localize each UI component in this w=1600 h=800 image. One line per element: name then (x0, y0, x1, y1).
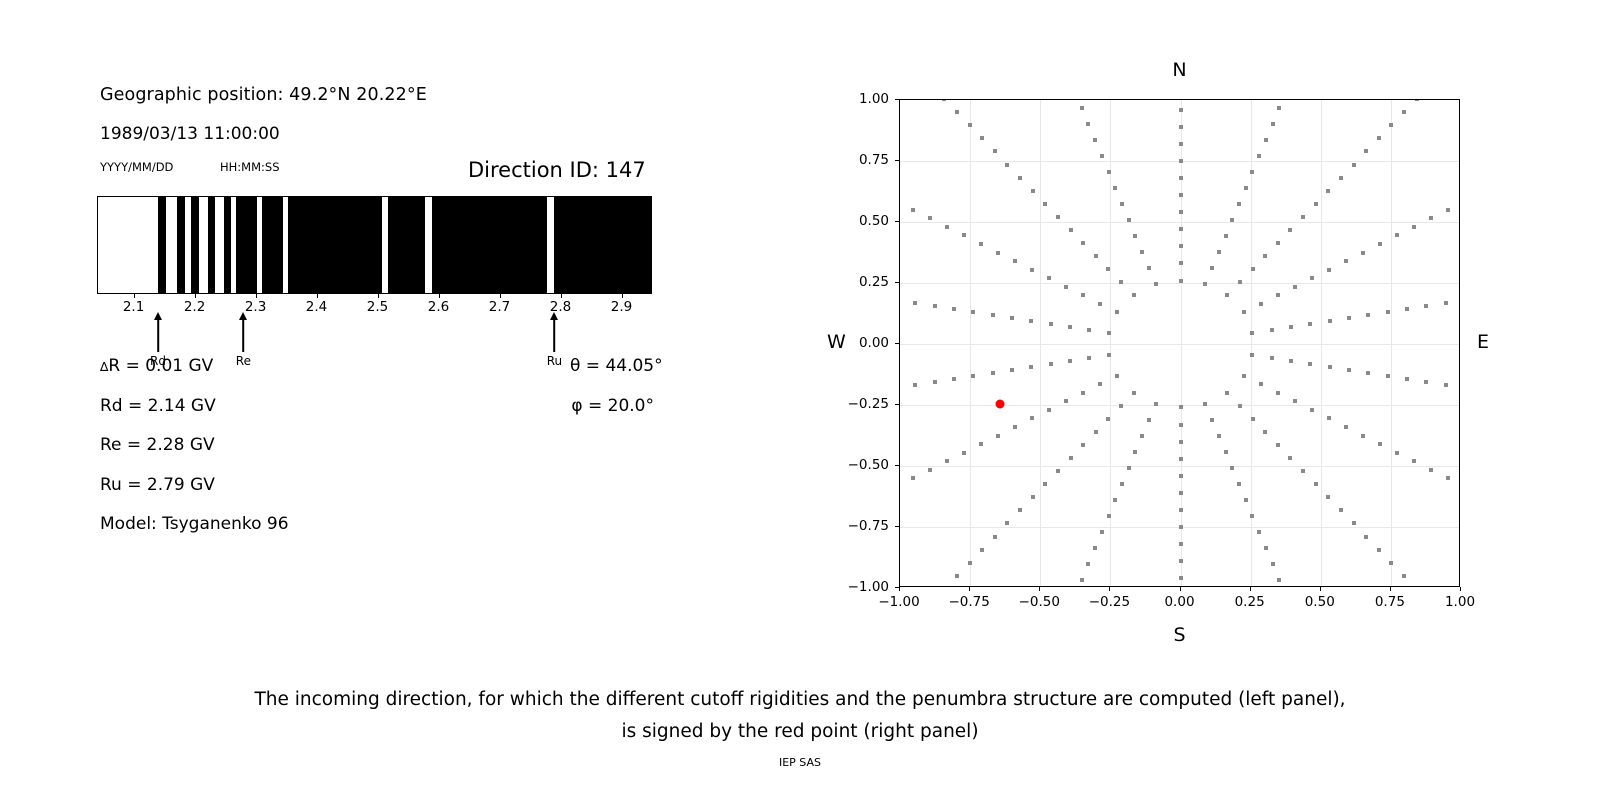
direction-point[interactable] (1314, 482, 1318, 486)
direction-point[interactable] (1179, 457, 1183, 461)
plot-xtick-label: −0.25 (1089, 594, 1130, 610)
direction-point[interactable] (1347, 316, 1351, 320)
direction-point[interactable] (1115, 374, 1119, 378)
direction-point[interactable] (1293, 285, 1297, 289)
direction-point[interactable] (1029, 365, 1033, 369)
direction-point[interactable] (993, 535, 997, 539)
direction-point[interactable] (1308, 362, 1312, 366)
direction-point[interactable] (1018, 176, 1022, 180)
direction-point[interactable] (968, 561, 972, 565)
direction-point[interactable] (1364, 535, 1368, 539)
direction-point[interactable] (1289, 359, 1293, 363)
direction-point[interactable] (1257, 154, 1261, 158)
direction-point[interactable] (1154, 282, 1158, 286)
direction-point[interactable] (1230, 466, 1234, 470)
direction-point[interactable] (1244, 186, 1248, 190)
penumbra-tick-mark (378, 294, 379, 298)
direction-point[interactable] (1119, 280, 1123, 284)
direction-point[interactable] (1069, 456, 1073, 460)
direction-point[interactable] (1179, 525, 1183, 529)
direction-point[interactable] (1389, 561, 1393, 565)
penumbra-tick-label: 2.3 (245, 299, 266, 315)
direction-point[interactable] (991, 313, 995, 317)
direction-point[interactable] (1277, 106, 1281, 110)
direction-id-text: Direction ID: 147 (468, 158, 646, 182)
direction-point[interactable] (979, 242, 983, 246)
direction-point[interactable] (1093, 138, 1097, 142)
direction-point[interactable] (1327, 268, 1331, 272)
direction-point[interactable] (1080, 578, 1084, 582)
penumbra-chart (97, 196, 652, 294)
direction-point[interactable] (1339, 508, 1343, 512)
direction-point[interactable] (1405, 377, 1409, 381)
direction-point[interactable] (1270, 356, 1274, 360)
direction-point[interactable] (1086, 122, 1090, 126)
marker-arrow-rd (157, 320, 159, 352)
direction-point[interactable] (1043, 482, 1047, 486)
penumbra-band (236, 197, 257, 293)
direction-point[interactable] (1386, 310, 1390, 314)
direction-point[interactable] (1344, 425, 1348, 429)
direction-point[interactable] (1049, 362, 1053, 366)
direction-point[interactable] (1029, 319, 1033, 323)
marker-arrow-ru (554, 320, 556, 352)
direction-point[interactable] (1179, 440, 1183, 444)
direction-point[interactable] (1224, 450, 1228, 454)
penumbra-band (177, 197, 184, 293)
direction-point[interactable] (1179, 279, 1183, 283)
direction-point[interactable] (1140, 434, 1144, 438)
direction-point[interactable] (1301, 469, 1305, 473)
direction-point[interactable] (1147, 266, 1151, 270)
direction-point[interactable] (1179, 125, 1183, 129)
direction-point[interactable] (1230, 218, 1234, 222)
gridline-horizontal (900, 344, 1459, 345)
gridline-vertical (1181, 100, 1182, 586)
direction-point[interactable] (1140, 250, 1144, 254)
direction-point[interactable] (1361, 251, 1365, 255)
direction-point[interactable] (1056, 215, 1060, 219)
direction-point[interactable] (1366, 371, 1370, 375)
plot-ytick (895, 221, 899, 222)
direction-point[interactable] (1179, 210, 1183, 214)
direction-point[interactable] (1094, 254, 1098, 258)
gridline-horizontal (900, 466, 1459, 467)
marker-arrow-re (243, 320, 245, 352)
compass-label-east: E (1477, 331, 1489, 353)
direction-point[interactable] (1127, 218, 1131, 222)
direction-point[interactable] (1263, 254, 1267, 258)
direction-point[interactable] (955, 574, 959, 578)
direction-point[interactable] (1250, 170, 1254, 174)
direction-point[interactable] (1068, 325, 1072, 329)
direction-point[interactable] (1094, 430, 1098, 434)
direction-point[interactable] (1251, 417, 1255, 421)
plot-ytick-label: 1.00 (843, 91, 889, 107)
plot-xtick-label: 0.25 (1235, 594, 1265, 610)
direction-point[interactable] (913, 383, 917, 387)
direction-point[interactable] (996, 251, 1000, 255)
direction-point[interactable] (1107, 353, 1111, 357)
direction-point[interactable] (1424, 304, 1428, 308)
marker-arrowhead-rd (154, 312, 162, 320)
direction-point[interactable] (1238, 280, 1242, 284)
direction-point[interactable] (1250, 331, 1254, 335)
plot-xtick-label: 0.50 (1305, 594, 1335, 610)
penumbra-tick-mark (134, 294, 135, 298)
direction-point[interactable] (1179, 227, 1183, 231)
direction-point[interactable] (911, 476, 915, 480)
direction-point[interactable] (979, 442, 983, 446)
penumbra-band (158, 197, 167, 293)
angle-line: φ = 20.0° (570, 396, 654, 416)
marker-label-re: Re (236, 354, 251, 368)
direction-point[interactable] (1244, 498, 1248, 502)
direction-point[interactable] (1127, 466, 1131, 470)
direction-point[interactable] (1288, 456, 1292, 460)
plot-ytick (895, 526, 899, 527)
direction-point[interactable] (1098, 382, 1102, 386)
direction-point[interactable] (1115, 310, 1119, 314)
stat-line: Model: Tsyganenko 96 (100, 514, 289, 534)
direction-point[interactable] (1259, 382, 1263, 386)
direction-point[interactable] (1377, 136, 1381, 140)
direction-point[interactable] (952, 377, 956, 381)
gridline-vertical (1321, 100, 1322, 586)
direction-point[interactable] (1264, 138, 1268, 142)
marker-label-ru: Ru (547, 354, 562, 368)
stat-line: Re = 2.28 GV (100, 435, 215, 455)
penumbra-tick-label: 2.1 (123, 299, 144, 315)
direction-point[interactable] (1081, 443, 1085, 447)
penumbra-tick-mark (256, 294, 257, 298)
direction-point[interactable] (1276, 241, 1280, 245)
direction-point[interactable] (1276, 293, 1280, 297)
plot-ytick (895, 587, 899, 588)
direction-point[interactable] (980, 548, 984, 552)
plot-ytick (895, 404, 899, 405)
plot-ytick (895, 99, 899, 100)
gridline-vertical (1040, 100, 1041, 586)
direction-point[interactable] (962, 233, 966, 237)
plot-xtick (1390, 587, 1391, 591)
direction-point[interactable] (1010, 368, 1014, 372)
direction-point[interactable] (1224, 234, 1228, 238)
plot-frame (899, 99, 1460, 587)
direction-point[interactable] (1308, 322, 1312, 326)
direction-point[interactable] (980, 136, 984, 140)
direction-point[interactable] (1031, 495, 1035, 499)
direction-point[interactable] (1237, 482, 1241, 486)
direction-scatter-panel (899, 99, 1460, 587)
direction-point[interactable] (1043, 202, 1047, 206)
direction-point[interactable] (1263, 430, 1267, 434)
direction-point[interactable] (1276, 443, 1280, 447)
direction-point[interactable] (913, 301, 917, 305)
direction-point[interactable] (1132, 391, 1136, 395)
direction-point[interactable] (1113, 498, 1117, 502)
direction-point[interactable] (1270, 328, 1274, 332)
direction-point[interactable] (1328, 365, 1332, 369)
direction-point[interactable] (1081, 241, 1085, 245)
direction-point[interactable] (1064, 399, 1068, 403)
direction-point[interactable] (1179, 576, 1183, 580)
direction-point[interactable] (1179, 159, 1183, 163)
direction-point[interactable] (1352, 521, 1356, 525)
date-format-hint: YYYY/MM/DD (100, 160, 173, 174)
direction-point[interactable] (1251, 267, 1255, 271)
direction-point[interactable] (1389, 123, 1393, 127)
compass-label-south: S (1173, 624, 1185, 646)
direction-point[interactable] (1366, 313, 1370, 317)
direction-point[interactable] (1087, 356, 1091, 360)
penumbra-band (554, 197, 652, 293)
direction-point[interactable] (971, 310, 975, 314)
penumbra-tick-label: 2.4 (306, 299, 327, 315)
direction-point[interactable] (1314, 202, 1318, 206)
plot-xtick (1039, 587, 1040, 591)
direction-point[interactable] (1242, 310, 1246, 314)
direction-point[interactable] (1289, 325, 1293, 329)
direction-point[interactable] (1301, 215, 1305, 219)
direction-point[interactable] (928, 468, 932, 472)
direction-point[interactable] (1179, 244, 1183, 248)
direction-point[interactable] (1377, 548, 1381, 552)
direction-point[interactable] (1106, 267, 1110, 271)
direction-point[interactable] (1179, 142, 1183, 146)
direction-point[interactable] (1133, 234, 1137, 238)
direction-point[interactable] (968, 123, 972, 127)
direction-point[interactable] (1107, 170, 1111, 174)
direction-point[interactable] (1386, 374, 1390, 378)
plot-ytick-label: −0.25 (843, 396, 889, 412)
direction-point[interactable] (1210, 418, 1214, 422)
direction-point[interactable] (1210, 266, 1214, 270)
direction-point[interactable] (1030, 416, 1034, 420)
direction-point[interactable] (1344, 259, 1348, 263)
direction-point[interactable] (1225, 293, 1229, 297)
direction-point[interactable] (1217, 434, 1221, 438)
direction-point[interactable] (1310, 408, 1314, 412)
direction-point[interactable] (945, 225, 949, 229)
penumbra-axis: 2.12.22.32.42.52.62.72.82.9RdReRu (97, 294, 652, 310)
direction-point[interactable] (1069, 228, 1073, 232)
direction-point[interactable] (1203, 402, 1207, 406)
penumbra-tick-mark (195, 294, 196, 298)
direction-point[interactable] (1081, 391, 1085, 395)
direction-point[interactable] (1237, 202, 1241, 206)
direction-point[interactable] (1120, 202, 1124, 206)
direction-point[interactable] (1257, 530, 1261, 534)
direction-point[interactable] (1179, 474, 1183, 478)
direction-point[interactable] (1081, 293, 1085, 297)
direction-point[interactable] (1328, 319, 1332, 323)
direction-point[interactable] (1327, 416, 1331, 420)
direction-point[interactable] (1064, 285, 1068, 289)
direction-point[interactable] (1264, 546, 1268, 550)
plot-ytick-label: 0.75 (843, 152, 889, 168)
direction-point[interactable] (1010, 316, 1014, 320)
direction-point[interactable] (1277, 578, 1281, 582)
direction-point[interactable] (942, 99, 946, 101)
direction-point[interactable] (1147, 418, 1151, 422)
direction-point[interactable] (1086, 562, 1090, 566)
direction-point[interactable] (1415, 99, 1419, 101)
direction-point[interactable] (1238, 404, 1242, 408)
direction-point[interactable] (1179, 508, 1183, 512)
direction-point[interactable] (1378, 442, 1382, 446)
penumbra-tick-mark (561, 294, 562, 298)
direction-point[interactable] (1288, 228, 1292, 232)
direction-point[interactable] (1107, 514, 1111, 518)
left-panel: Geographic position: 49.2°N 20.22°E 1989… (0, 0, 720, 660)
direction-point[interactable] (1203, 282, 1207, 286)
direction-point[interactable] (1446, 208, 1450, 212)
direction-point[interactable] (1100, 530, 1104, 534)
direction-point[interactable] (991, 371, 995, 375)
direction-point[interactable] (1225, 391, 1229, 395)
plot-xtick (899, 587, 900, 591)
penumbra-tick-label: 2.2 (184, 299, 205, 315)
direction-point[interactable] (1179, 542, 1183, 546)
direction-point[interactable] (1047, 408, 1051, 412)
direction-point[interactable] (1412, 459, 1416, 463)
direction-point[interactable] (1444, 301, 1448, 305)
direction-point[interactable] (1293, 399, 1297, 403)
direction-point[interactable] (1056, 469, 1060, 473)
direction-point[interactable] (952, 307, 956, 311)
plot-xtick (1250, 587, 1251, 591)
direction-point[interactable] (1013, 425, 1017, 429)
selected-direction-point[interactable] (995, 399, 1004, 408)
direction-point[interactable] (971, 374, 975, 378)
penumbra-band (432, 197, 547, 293)
direction-point[interactable] (1326, 495, 1330, 499)
direction-point[interactable] (1405, 307, 1409, 311)
direction-point[interactable] (962, 451, 966, 455)
penumbra-tick-mark (439, 294, 440, 298)
direction-point[interactable] (1271, 562, 1275, 566)
direction-point[interactable] (1107, 331, 1111, 335)
penumbra-tick-mark (317, 294, 318, 298)
direction-point[interactable] (1326, 189, 1330, 193)
direction-point[interactable] (1106, 417, 1110, 421)
direction-point[interactable] (1005, 521, 1009, 525)
direction-point[interactable] (1132, 293, 1136, 297)
direction-point[interactable] (1179, 108, 1183, 112)
direction-point[interactable] (1093, 546, 1097, 550)
direction-point[interactable] (955, 110, 959, 114)
direction-point[interactable] (1113, 186, 1117, 190)
direction-point[interactable] (1018, 508, 1022, 512)
datetime-text: 1989/03/13 11:00:00 (100, 124, 280, 144)
direction-point[interactable] (1179, 193, 1183, 197)
direction-point[interactable] (933, 304, 937, 308)
direction-point[interactable] (1364, 149, 1368, 153)
penumbra-tick-label: 2.7 (489, 299, 510, 315)
direction-point[interactable] (1005, 163, 1009, 167)
direction-point[interactable] (1119, 404, 1123, 408)
plot-xtick (1460, 587, 1461, 591)
marker-arrowhead-re (239, 312, 247, 320)
direction-point[interactable] (1352, 163, 1356, 167)
compass-label-north: N (1172, 59, 1186, 81)
direction-point[interactable] (1179, 261, 1183, 265)
direction-point[interactable] (1310, 276, 1314, 280)
direction-point[interactable] (1412, 225, 1416, 229)
direction-point[interactable] (1133, 450, 1137, 454)
direction-point[interactable] (1395, 451, 1399, 455)
direction-point[interactable] (993, 149, 997, 153)
direction-point[interactable] (1339, 176, 1343, 180)
direction-point[interactable] (933, 380, 937, 384)
direction-point[interactable] (1080, 106, 1084, 110)
plot-xtick (1180, 587, 1181, 591)
direction-point[interactable] (1429, 216, 1433, 220)
plot-ytick-label: −1.00 (843, 579, 889, 595)
direction-point[interactable] (1242, 374, 1246, 378)
direction-point[interactable] (1179, 176, 1183, 180)
caption-line-1: The incoming direction, for which the di… (0, 684, 1600, 716)
plot-xtick-label: 0.00 (1164, 594, 1194, 610)
direction-point[interactable] (1446, 476, 1450, 480)
direction-point[interactable] (1444, 383, 1448, 387)
direction-point[interactable] (996, 434, 1000, 438)
direction-point[interactable] (1154, 402, 1158, 406)
direction-point[interactable] (1217, 250, 1221, 254)
direction-point[interactable] (1395, 233, 1399, 237)
direction-point[interactable] (1120, 482, 1124, 486)
plot-xtick (1320, 587, 1321, 591)
geographic-position-text: Geographic position: 49.2°N 20.22°E (100, 85, 427, 105)
direction-point[interactable] (1068, 359, 1072, 363)
direction-point[interactable] (1098, 302, 1102, 306)
direction-point[interactable] (1087, 328, 1091, 332)
plot-xtick-label: −0.50 (1019, 594, 1060, 610)
direction-point[interactable] (1402, 574, 1406, 578)
direction-point[interactable] (1250, 353, 1254, 357)
direction-point[interactable] (1047, 276, 1051, 280)
direction-point[interactable] (1013, 259, 1017, 263)
direction-point[interactable] (1179, 559, 1183, 563)
direction-point[interactable] (911, 208, 915, 212)
direction-point[interactable] (1179, 423, 1183, 427)
direction-point[interactable] (1179, 491, 1183, 495)
direction-point[interactable] (1361, 434, 1365, 438)
direction-point[interactable] (1049, 322, 1053, 326)
direction-point[interactable] (1347, 368, 1351, 372)
direction-point[interactable] (1424, 380, 1428, 384)
direction-point[interactable] (1031, 189, 1035, 193)
direction-point[interactable] (928, 216, 932, 220)
direction-point[interactable] (1250, 514, 1254, 518)
penumbra-tick-mark (622, 294, 623, 298)
plot-ytick-label: −0.75 (843, 518, 889, 534)
plot-xtick-label: 0.75 (1375, 594, 1405, 610)
plot-ytick-label: −0.50 (843, 457, 889, 473)
direction-point[interactable] (945, 459, 949, 463)
direction-point[interactable] (1402, 110, 1406, 114)
direction-point[interactable] (1259, 302, 1263, 306)
angle-line: θ = 44.05° (570, 356, 654, 376)
direction-point[interactable] (1378, 242, 1382, 246)
direction-point[interactable] (1276, 391, 1280, 395)
direction-point[interactable] (1429, 468, 1433, 472)
direction-point[interactable] (1271, 122, 1275, 126)
direction-point[interactable] (1179, 405, 1183, 409)
direction-point[interactable] (1100, 154, 1104, 158)
direction-point[interactable] (1030, 268, 1034, 272)
